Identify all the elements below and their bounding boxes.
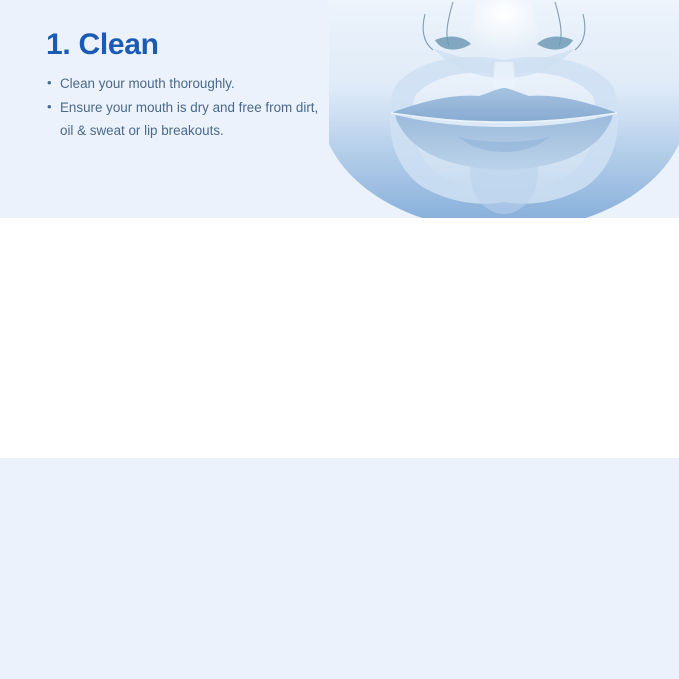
- step-panel-apply: 3. Apply Tape it completely Gently press…: [0, 458, 679, 679]
- list-item: Ensure your mouth is dry and free from d…: [46, 96, 326, 142]
- step-panel-peel: 2. Peel Hold the mouth tape with its adh…: [0, 218, 679, 458]
- step-1-bullets: Clean your mouth thoroughly. Ensure your…: [46, 72, 326, 142]
- step-1-heading: 1. Clean: [46, 28, 326, 61]
- step-1-text: 1. Clean Clean your mouth thoroughly. En…: [46, 28, 326, 143]
- list-item: Clean your mouth thoroughly.: [46, 72, 326, 95]
- instruction-graphic: 1. Clean Clean your mouth thoroughly. En…: [0, 0, 679, 679]
- face-closed-mouth-illustration: [329, 0, 679, 218]
- step-panel-clean: 1. Clean Clean your mouth thoroughly. En…: [0, 0, 679, 218]
